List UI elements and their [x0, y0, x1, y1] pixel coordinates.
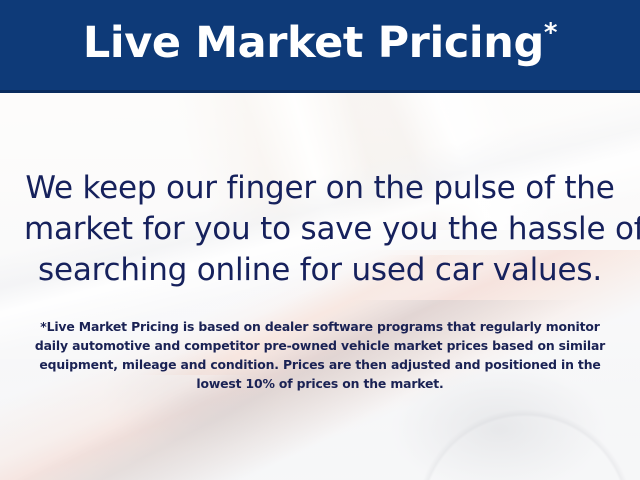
headline: We keep our finger on the pulse of the m… — [24, 168, 616, 291]
headline-line-3: searching online for used car values. — [24, 250, 616, 291]
live-market-pricing-banner: Live Market Pricing* We keep our finger … — [0, 0, 640, 480]
headline-line-2: market for you to save you the hassle of — [24, 209, 616, 250]
disclaimer-line-3: equipment, mileage and condition. Prices… — [26, 355, 614, 374]
page-title-footnote-marker: * — [544, 18, 557, 48]
disclaimer-line-2: daily automotive and competitor pre-owne… — [26, 336, 614, 355]
header-band: Live Market Pricing* — [0, 0, 640, 93]
disclaimer: *Live Market Pricing is based on dealer … — [26, 317, 614, 393]
disclaimer-line-1: *Live Market Pricing is based on dealer … — [26, 317, 614, 336]
headline-line-1: We keep our finger on the pulse of the — [24, 168, 616, 209]
page-title-text: Live Market Pricing — [83, 18, 544, 68]
disclaimer-line-4: lowest 10% of prices on the market. — [26, 374, 614, 393]
page-title: Live Market Pricing* — [83, 22, 557, 69]
